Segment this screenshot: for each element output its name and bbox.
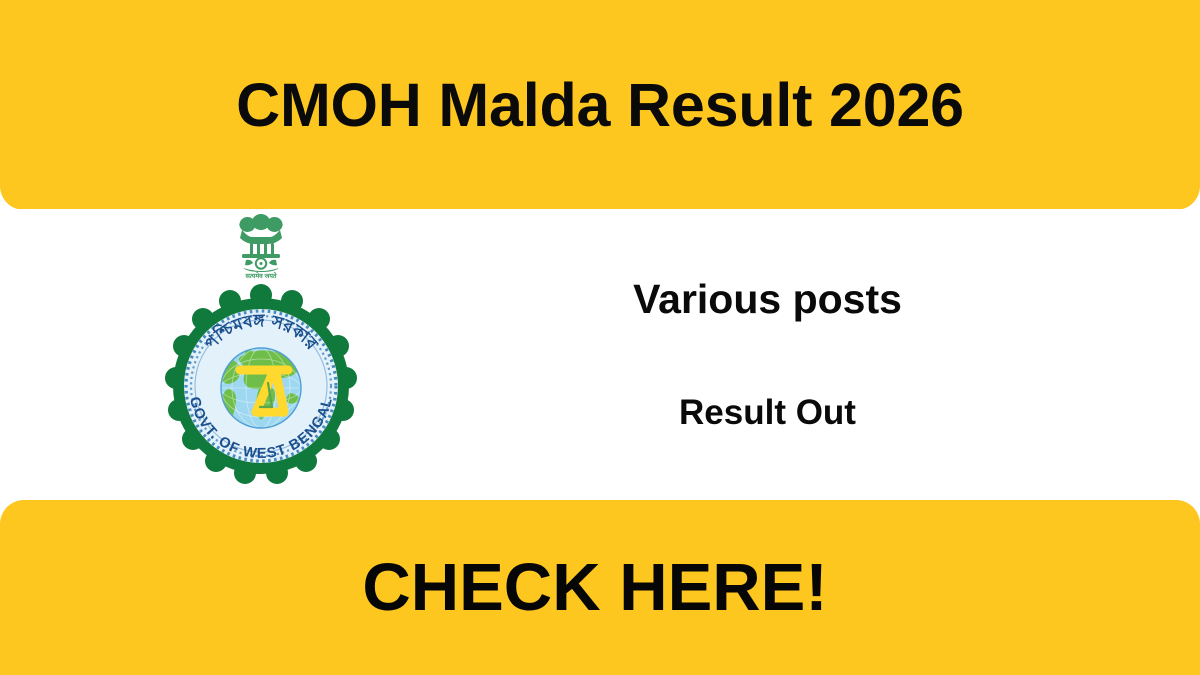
check-here-label: CHECK HERE! <box>362 554 827 621</box>
west-bengal-seal-icon: পশ্চিমবঙ্গ সরকার GOVT. OF WEST BENGAL <box>156 281 366 491</box>
organization-emblem: सत्यमेव जयते <box>139 209 382 500</box>
vacancy-info: Various posts Result Out <box>420 209 1200 500</box>
svg-text:सत्यमेव जयते: सत्यमेव जयते <box>244 272 276 279</box>
status-label: Result Out <box>420 394 1115 433</box>
ashoka-emblem-icon: सत्यमेव जयते <box>230 211 292 279</box>
page-title: CMOH Malda Result 2026 <box>236 75 964 136</box>
check-here-button[interactable]: CHECK HERE! <box>0 500 1200 675</box>
content-section: सत्यमेव जयते <box>0 209 1200 500</box>
poster-canvas: CMOH Malda Result 2026 <box>0 0 1200 675</box>
header-banner: CMOH Malda Result 2026 <box>0 0 1200 210</box>
post-name-label: Various posts <box>420 277 1115 322</box>
